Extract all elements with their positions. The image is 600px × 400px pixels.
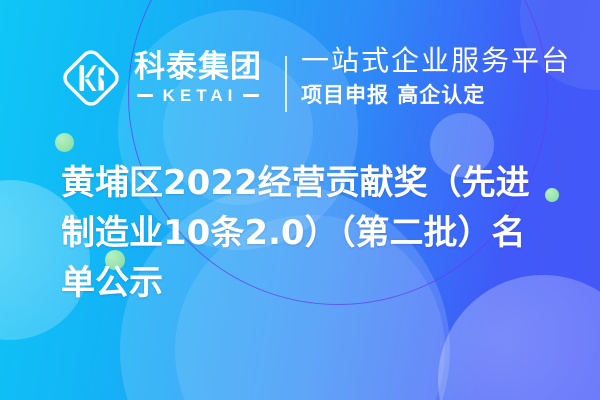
tagline-secondary: 项目申报 高企认定 [301, 81, 571, 109]
logo-wordmark: 科泰集团 KETAI [134, 51, 262, 106]
logo-right-bar-icon [243, 94, 259, 97]
ketai-diamond-logo-icon [58, 45, 124, 111]
banner-title-line-2: 业10条2.0）（第二批）名单公示 [61, 213, 526, 303]
logo-company-name-en: KETAI [159, 86, 238, 106]
header-vertical-divider [285, 56, 287, 112]
ketai-logo: 科泰集团 KETAI [58, 45, 262, 111]
banner-title: 黄埔区2022经营贡献奖（先进制造业10条2.0）（第二批）名单公示 [61, 158, 551, 308]
banner-header: 科泰集团 KETAI 一站式企业服务平台 项目申报 高企认定 [0, 0, 600, 140]
logo-company-name-cn: 科泰集团 [134, 51, 262, 83]
logo-english-row: KETAI [137, 86, 260, 106]
tagline-primary: 一站式企业服务平台 [301, 44, 571, 78]
tagline-block: 一站式企业服务平台 项目申报 高企认定 [301, 44, 571, 109]
promo-banner: 科泰集团 KETAI 一站式企业服务平台 项目申报 高企认定 黄埔区2022经营… [0, 0, 600, 400]
logo-left-bar-icon [137, 94, 153, 97]
